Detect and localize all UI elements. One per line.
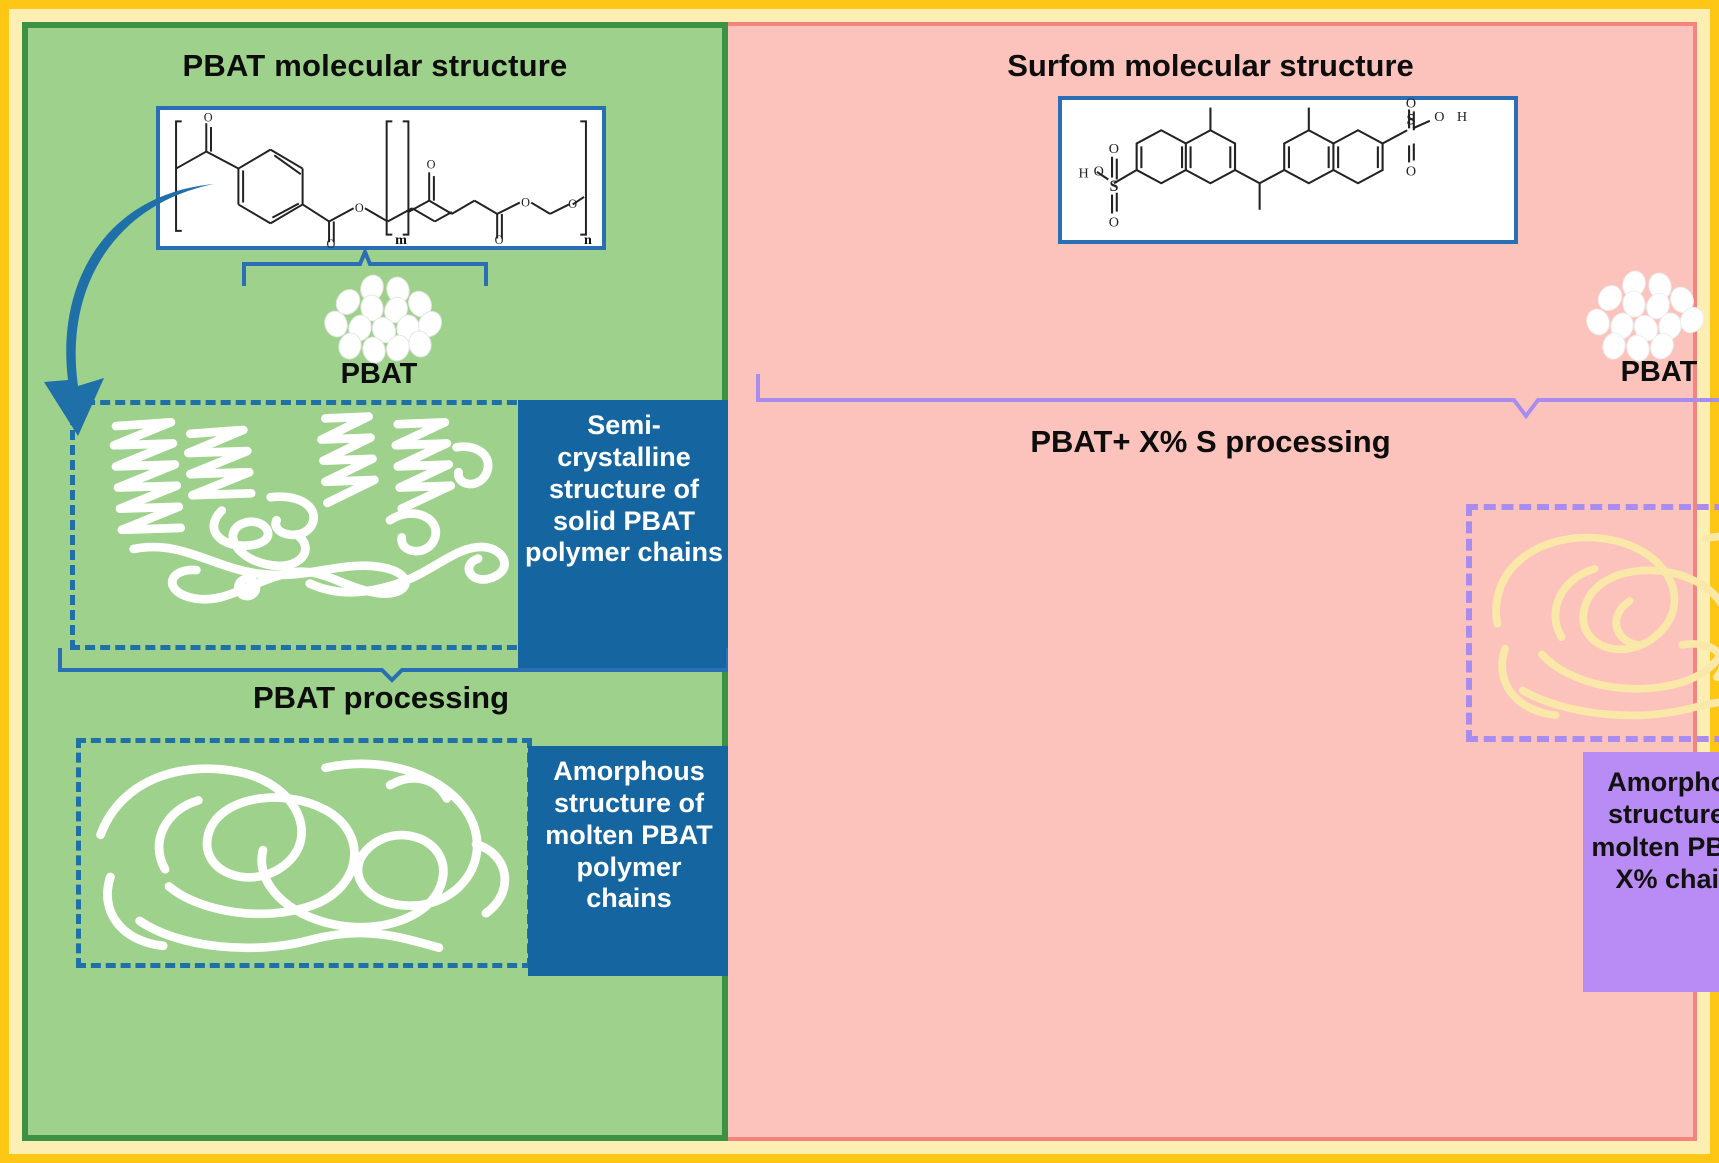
- atom-O: O: [1406, 96, 1416, 112]
- atom-O: O: [204, 110, 213, 124]
- semicrystalline-chains-drawing: [75, 405, 527, 645]
- pbat-granule-cluster: [310, 276, 460, 360]
- figure-canvas: PBAT molecular structure: [0, 0, 1719, 1163]
- molten-blend-chains-drawing: [1472, 510, 1719, 736]
- atom-O: O: [495, 233, 504, 247]
- atom-H: H: [1457, 109, 1467, 125]
- atom-O: O: [355, 201, 364, 215]
- atom-O: O: [568, 197, 577, 211]
- subscript-m: m: [395, 232, 407, 248]
- atom-O: O: [427, 158, 436, 172]
- blend-processing-label: PBAT+ X% S processing: [728, 424, 1693, 460]
- atom-S: S: [1109, 178, 1118, 195]
- atom-O: O: [521, 195, 530, 209]
- atom-H: H: [1079, 166, 1089, 182]
- surfom-skeletal-formula: H O S O O S O O O H: [1062, 100, 1514, 240]
- semicrystalline-caption: Semi-crystalline structure of solid PBAT…: [518, 400, 730, 668]
- amorphous-chains-drawing: [81, 743, 527, 963]
- pbat-granule-cluster-right: [1572, 272, 1719, 358]
- atom-O: O: [327, 237, 336, 251]
- atom-O: O: [1094, 164, 1104, 180]
- pbat-processing-label: PBAT processing: [28, 680, 734, 716]
- pbat-granule-bracket: [240, 250, 490, 290]
- atom-O: O: [1109, 141, 1119, 157]
- panels-row: PBAT molecular structure: [22, 22, 1697, 1141]
- right-panel-title: Surfom molecular structure: [728, 48, 1693, 84]
- pbat-granule-label-right: PBAT: [1554, 356, 1719, 389]
- pbat-surfom-panel: Surfom molecular structure: [728, 22, 1697, 1141]
- pbat-skeletal-formula: O O O O O O O m n: [160, 110, 602, 246]
- pbat-granule-label: PBAT: [264, 358, 494, 391]
- molten-blend-dashed-region: [1466, 504, 1719, 742]
- surfom-molecular-structure-box: H O S O O S O O O H: [1058, 96, 1518, 244]
- amorphous-caption: Amorphous structure of molten PBAT polym…: [528, 746, 730, 976]
- subscript-n: n: [584, 232, 592, 248]
- atom-O: O: [1434, 109, 1444, 125]
- atom-O: O: [1109, 215, 1119, 231]
- molten-blend-caption: Amorphous structure of molten PBAT+ X% c…: [1583, 752, 1719, 992]
- pbat-panel: PBAT molecular structure: [22, 22, 728, 1141]
- atom-O: O: [1406, 164, 1416, 180]
- pbat-molecular-structure-box: O O O O O O O m n: [156, 106, 606, 250]
- left-panel-title: PBAT molecular structure: [28, 48, 722, 84]
- atom-S: S: [1406, 112, 1415, 129]
- amorphous-dashed-region: [76, 738, 532, 968]
- semicrystalline-dashed-region: [70, 400, 532, 650]
